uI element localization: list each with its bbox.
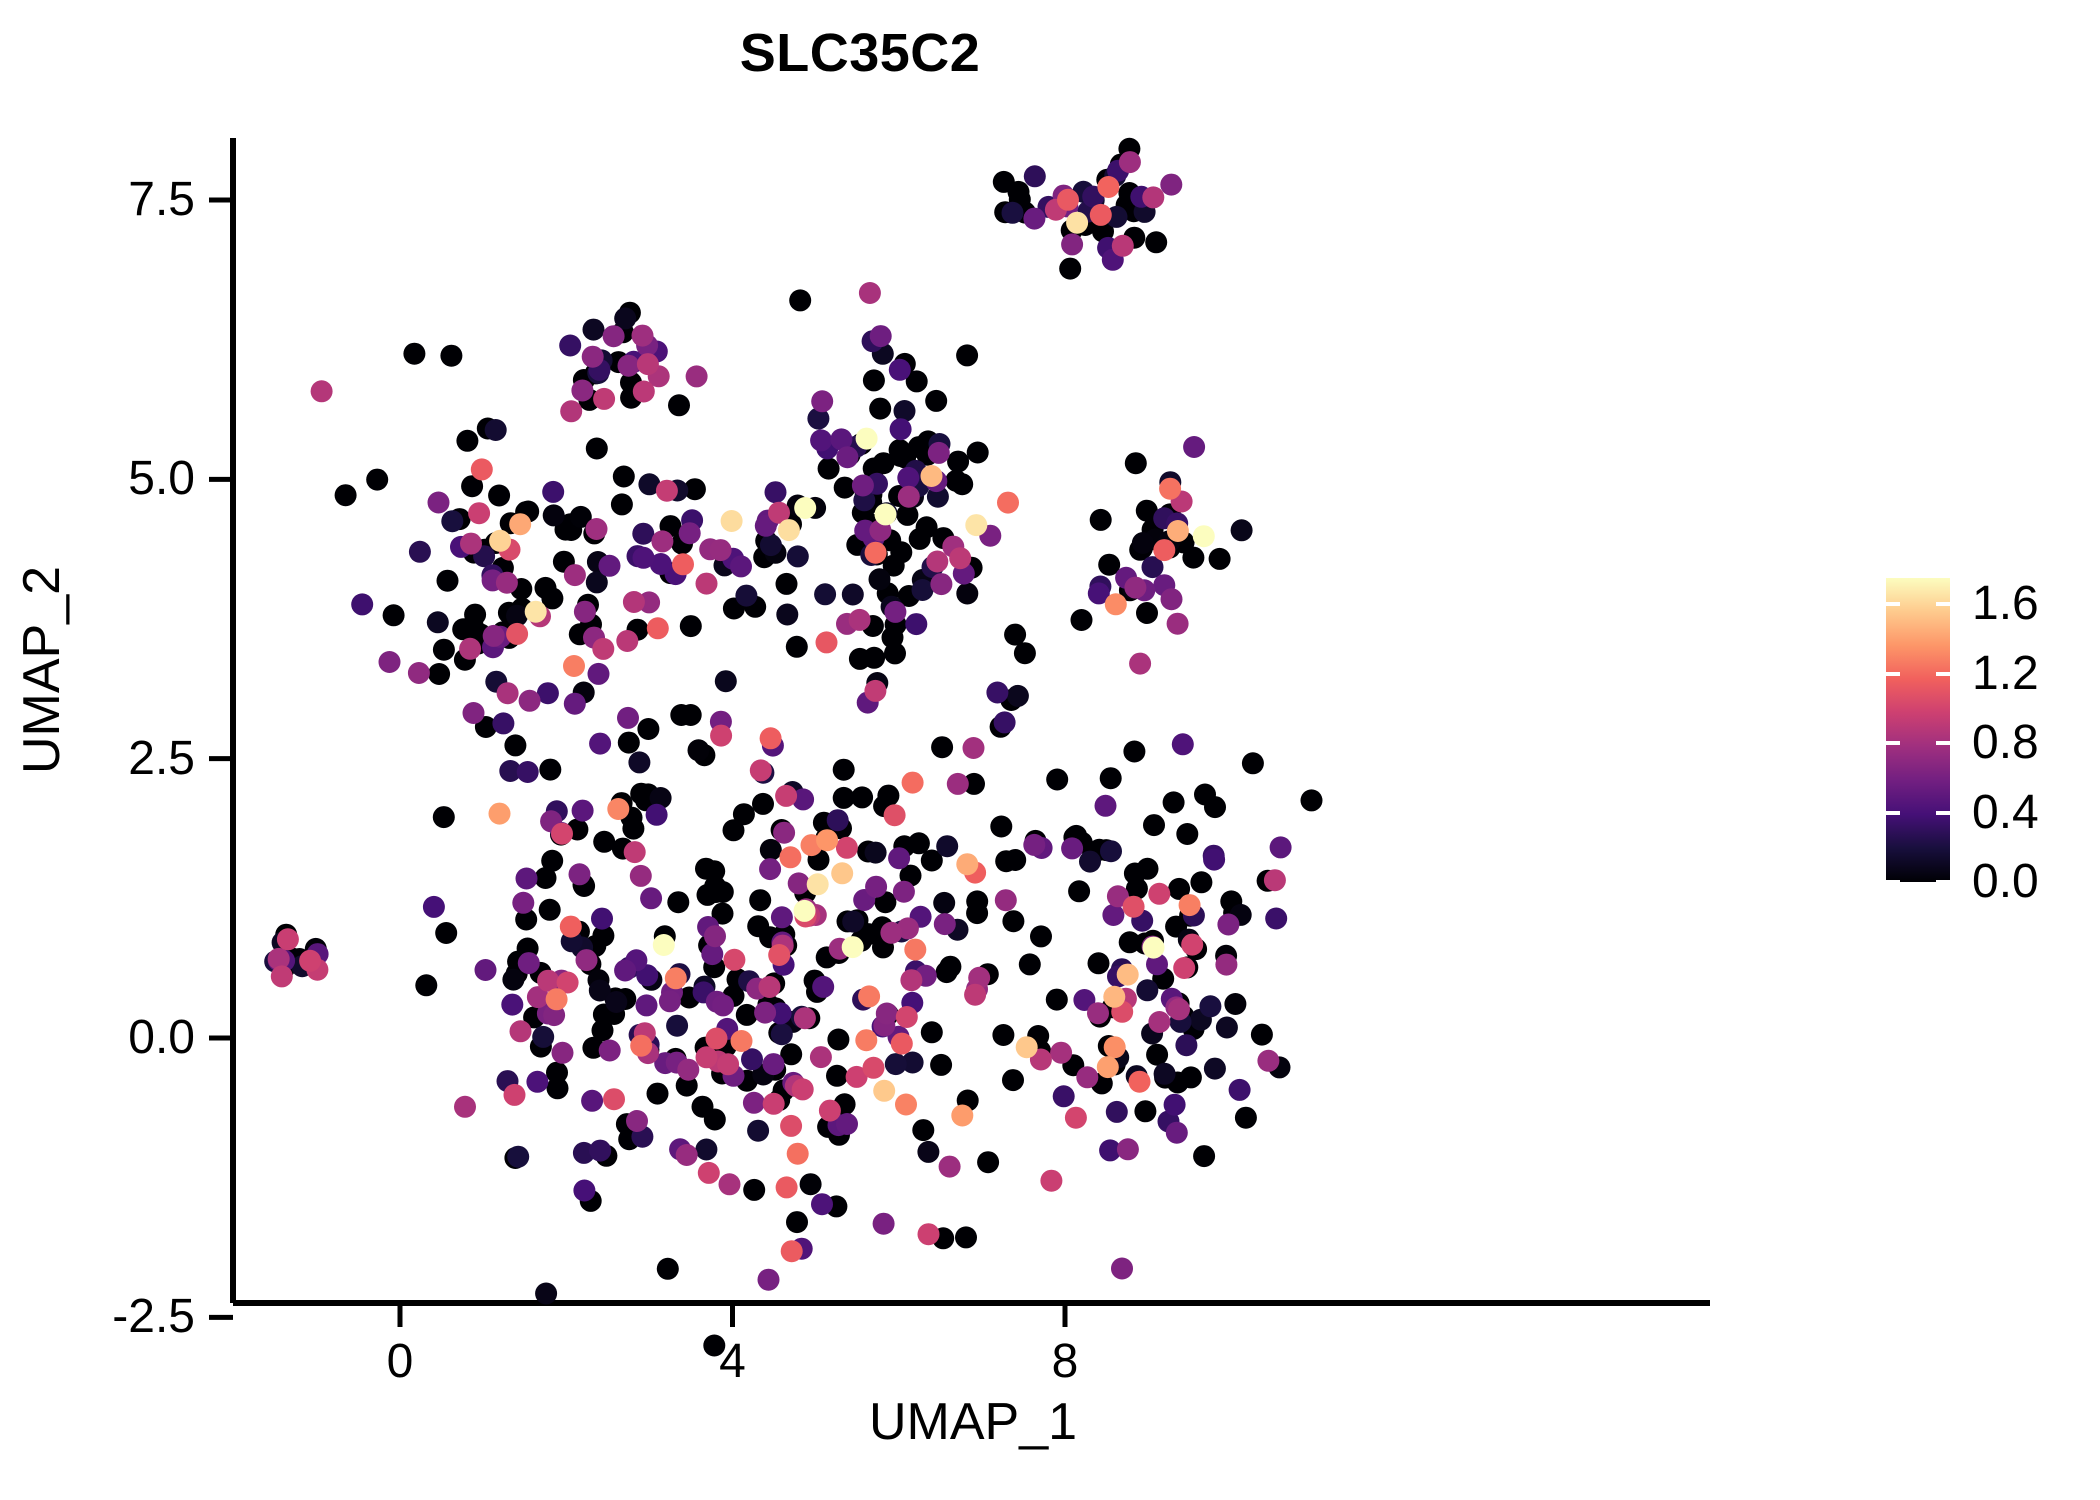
scatter-point (637, 718, 659, 740)
scatter-point (1168, 998, 1190, 1020)
scatter-point (1008, 181, 1030, 203)
scatter-point (1136, 602, 1158, 624)
scatter-point (1104, 1036, 1126, 1058)
scatter-point (510, 1020, 532, 1042)
scatter-point (573, 1180, 595, 1202)
scatter-point (750, 759, 772, 781)
scatter-point (535, 867, 557, 889)
scatter-point (1103, 986, 1125, 1008)
scatter-point (546, 1062, 568, 1084)
scatter-point (771, 906, 793, 928)
scatter-point (1145, 231, 1167, 253)
scatter-point (1065, 1107, 1087, 1129)
scatter-point (1088, 952, 1110, 974)
scatter-point (891, 1033, 913, 1055)
scatter-point (640, 887, 662, 909)
scatter-point (592, 638, 614, 660)
scatter-point (656, 480, 678, 502)
scatter-point (1148, 883, 1170, 905)
scatter-point (1180, 1066, 1202, 1088)
scatter-point (599, 555, 621, 577)
scatter-point (1166, 1122, 1188, 1144)
scatter-point (651, 530, 673, 552)
scatter-point (1137, 858, 1159, 880)
scatter-point (1229, 1079, 1251, 1101)
scatter-point (819, 1100, 841, 1122)
scatter-point (864, 680, 886, 702)
scatter-point (800, 1173, 822, 1195)
scatter-point (810, 429, 832, 451)
scatter-point (433, 806, 455, 828)
scatter-point (792, 1078, 814, 1100)
scatter-point (525, 601, 547, 623)
scatter-point (415, 974, 437, 996)
scatter-point (581, 1090, 603, 1112)
scatter-point (1119, 151, 1141, 173)
scatter-point (277, 928, 299, 950)
x-tick-label: 0 (340, 1334, 460, 1389)
scatter-point (1167, 520, 1189, 542)
scatter-point (616, 630, 638, 652)
scatter-point (497, 682, 519, 704)
scatter-point (735, 585, 757, 607)
scatter-point (1203, 849, 1225, 871)
scatter-point (633, 381, 655, 403)
scatter-point (1024, 165, 1046, 187)
scatter-point (909, 528, 931, 550)
scatter-point (833, 759, 855, 781)
scatter-point (900, 969, 922, 991)
scatter-point (1204, 1058, 1226, 1080)
scatter-point (873, 1080, 895, 1102)
scatter-point (893, 881, 915, 903)
scatter-point (763, 1053, 785, 1075)
scatter-point (427, 611, 449, 633)
scatter-point (963, 737, 985, 759)
scatter-point (492, 712, 514, 734)
scatter-point (526, 1071, 548, 1093)
scatter-point (918, 1223, 940, 1245)
scatter-point (475, 959, 497, 981)
scatter-point (677, 1059, 699, 1081)
scatter-point (1023, 208, 1045, 230)
scatter-point (518, 952, 540, 974)
scatter-point (647, 1083, 669, 1105)
scatter-point (1264, 869, 1286, 891)
scatter-point (471, 458, 493, 480)
scatter-point (516, 868, 538, 890)
scatter-point (1167, 613, 1189, 635)
scatter-point (672, 553, 694, 575)
scatter-point (816, 829, 838, 851)
colorbar-tick-mark (1936, 741, 1950, 745)
scatter-point (760, 534, 782, 556)
scatter-point (986, 682, 1008, 704)
scatter-point (532, 1026, 554, 1048)
scatter-point (1019, 953, 1041, 975)
scatter-point (936, 835, 958, 857)
data-points (264, 138, 1322, 1357)
scatter-point (633, 547, 655, 569)
scatter-point (779, 846, 801, 868)
scatter-point (723, 949, 745, 971)
scatter-point (1076, 1066, 1098, 1088)
scatter-point (504, 734, 526, 756)
scatter-point (1164, 1094, 1186, 1116)
scatter-point (1071, 609, 1093, 631)
scatter-point (517, 761, 539, 783)
scatter-point (912, 579, 934, 601)
scatter-point (869, 568, 891, 590)
scatter-point (1136, 979, 1158, 1001)
scatter-point (995, 889, 1017, 911)
scatter-point (1159, 478, 1181, 500)
scatter-point (564, 564, 586, 586)
scatter-point (752, 793, 774, 815)
scatter-point (955, 1226, 977, 1248)
colorbar-gradient (1886, 578, 1950, 882)
scatter-point (771, 1023, 793, 1045)
scatter-point (730, 555, 752, 577)
scatter-point (1061, 233, 1083, 255)
scatter-point (880, 922, 902, 944)
scatter-point (512, 892, 534, 914)
scatter-point (489, 803, 511, 825)
scatter-point (787, 1143, 809, 1165)
scatter-point (1190, 871, 1212, 893)
scatter-point (454, 1096, 476, 1118)
scatter-point (1199, 995, 1221, 1017)
scatter-point (460, 533, 482, 555)
scatter-point (1090, 509, 1112, 531)
scatter-point (1004, 849, 1026, 871)
scatter-point (624, 841, 646, 863)
scatter-point (383, 604, 405, 626)
scatter-point (468, 502, 490, 524)
scatter-point (1123, 741, 1145, 763)
scatter-point (1016, 1036, 1038, 1058)
scatter-point (931, 736, 953, 758)
scatter-point (836, 446, 858, 468)
scatter-point (865, 876, 887, 898)
scatter-point (1217, 914, 1239, 936)
scatter-point (299, 950, 321, 972)
scatter-point (335, 484, 357, 506)
scatter-point (712, 994, 734, 1016)
colorbar-tick-mark (1886, 602, 1900, 606)
scatter-point (760, 839, 782, 861)
scatter-point (921, 1021, 943, 1043)
scatter-point (1030, 925, 1052, 947)
scatter-point (1182, 547, 1204, 569)
scatter-point (921, 465, 943, 487)
scatter-point (749, 889, 771, 911)
scatter-point (926, 551, 948, 573)
scatter-point (710, 725, 732, 747)
scatter-point (719, 1173, 741, 1195)
scatter-point (696, 573, 718, 595)
scatter-point (668, 394, 690, 416)
scatter-point (1059, 258, 1081, 280)
scatter-point (705, 881, 727, 903)
scatter-point (816, 631, 838, 653)
scatter-point (1193, 1145, 1215, 1167)
scatter-point (535, 1283, 557, 1305)
scatter-point (1057, 189, 1079, 211)
scatter-point (571, 380, 593, 402)
scatter-point (842, 584, 864, 606)
scatter-point (496, 572, 518, 594)
scatter-point (551, 823, 573, 845)
scatter-point (1046, 769, 1068, 791)
scatter-point (956, 583, 978, 605)
scatter-point (542, 481, 564, 503)
scatter-point (576, 949, 598, 971)
scatter-point (379, 651, 401, 673)
scatter-point (366, 469, 388, 491)
scatter-point (502, 969, 524, 991)
scatter-point (688, 739, 710, 761)
scatter-point (1173, 957, 1195, 979)
scatter-point (876, 1003, 898, 1025)
scatter-point (440, 345, 462, 367)
scatter-point (1097, 176, 1119, 198)
scatter-point (912, 1119, 934, 1141)
colorbar-tick-mark (1936, 672, 1950, 676)
scatter-point (885, 1053, 907, 1075)
axis-lines (233, 138, 1710, 1303)
scatter-point (818, 458, 840, 480)
colorbar-tick-mark (1936, 811, 1950, 815)
scatter-point (1160, 174, 1182, 196)
scatter-point (765, 481, 787, 503)
scatter-point (1231, 519, 1253, 541)
scatter-point (763, 1093, 785, 1115)
scatter-point (842, 911, 864, 933)
scatter-point (351, 593, 373, 615)
scatter-point (904, 939, 926, 961)
scatter-point (851, 786, 873, 808)
scatter-point (593, 831, 615, 853)
scatter-point (717, 1053, 739, 1075)
scatter-point (1111, 1258, 1133, 1280)
scatter-point (1181, 934, 1203, 956)
scatter-point (653, 934, 675, 956)
scatter-point (831, 862, 853, 884)
scatter-point (794, 900, 816, 922)
scatter-point (1146, 1044, 1168, 1066)
y-tick-label: 5.0 (35, 451, 195, 506)
scatter-point (1265, 908, 1287, 930)
scatter-point (618, 355, 640, 377)
scatter-point (859, 282, 881, 304)
scatter-point (589, 733, 611, 755)
scatter-point (586, 518, 608, 540)
scatter-point (560, 400, 582, 422)
scatter-point (994, 711, 1016, 733)
scatter-point (563, 655, 585, 677)
scatter-point (836, 837, 858, 859)
scatter-point (1007, 685, 1029, 707)
scatter-point (888, 847, 910, 869)
scatter-point (776, 573, 798, 595)
scatter-point (695, 1139, 717, 1161)
scatter-point (409, 541, 431, 563)
scatter-point (898, 486, 920, 508)
scatter-point (855, 1029, 877, 1051)
scatter-point (1100, 840, 1122, 862)
scatter-point (1204, 796, 1226, 818)
scatter-point (870, 325, 892, 347)
scatter-point (1117, 964, 1139, 986)
scatter-point (826, 1065, 848, 1087)
scatter-point (715, 670, 737, 692)
scatter-point (865, 842, 887, 864)
scatter-point (992, 1024, 1014, 1046)
scatter-point (1143, 814, 1165, 836)
scatter-point (788, 872, 810, 894)
scatter-point (849, 609, 871, 631)
scatter-point (947, 451, 969, 473)
scatter-point (483, 625, 505, 647)
colorbar-tick-label: 0.4 (1972, 785, 2039, 840)
scatter-point (787, 545, 809, 567)
scatter-point (637, 353, 659, 375)
scatter-plot-canvas (0, 0, 2100, 1500)
scatter-point (786, 1211, 808, 1233)
scatter-point (1002, 202, 1024, 224)
y-tick-label: -2.5 (35, 1289, 195, 1344)
scatter-point (773, 822, 795, 844)
scatter-point (810, 1046, 832, 1068)
scatter-point (630, 1035, 652, 1057)
scatter-point (679, 522, 701, 544)
scatter-point (501, 994, 523, 1016)
scatter-point (546, 988, 568, 1010)
scatter-point (873, 1213, 895, 1235)
scatter-point (1132, 532, 1154, 554)
scatter-point (951, 1105, 973, 1127)
scatter-point (441, 510, 463, 532)
scatter-point (884, 804, 906, 826)
scatter-point (786, 636, 808, 658)
scatter-point (680, 704, 702, 726)
scatter-point (607, 798, 629, 820)
scatter-point (1014, 642, 1036, 664)
scatter-point (896, 1006, 918, 1028)
scatter-point (543, 504, 565, 526)
scatter-point (875, 503, 897, 525)
scatter-point (827, 809, 849, 831)
scatter-point (603, 325, 625, 347)
x-tick-label: 4 (673, 1334, 793, 1389)
scatter-point (933, 892, 955, 914)
scatter-point (582, 346, 604, 368)
scatter-point (721, 510, 743, 532)
scatter-point (977, 1151, 999, 1173)
scatter-point (459, 638, 481, 660)
scatter-point (863, 647, 885, 669)
scatter-point (1148, 1011, 1170, 1033)
scatter-point (743, 1179, 765, 1201)
colorbar-tick-label: 0.0 (1972, 854, 2039, 909)
scatter-point (778, 519, 800, 541)
scatter-point (889, 359, 911, 381)
scatter-point (614, 960, 636, 982)
scatter-point (646, 804, 668, 826)
scatter-point (593, 388, 615, 410)
scatter-point (895, 1094, 917, 1116)
scatter-point (1125, 452, 1147, 474)
y-tick-label: 2.5 (35, 731, 195, 786)
colorbar-tick-mark (1886, 880, 1900, 884)
scatter-point (591, 908, 613, 930)
colorbar-tick-label: 1.2 (1972, 646, 2039, 701)
scatter-point (626, 1110, 648, 1132)
scatter-point (967, 442, 989, 464)
scatter-point (569, 863, 591, 885)
scatter-point (949, 547, 971, 569)
scatter-point (1172, 733, 1194, 755)
scatter-point (928, 442, 950, 464)
scatter-point (617, 707, 639, 729)
scatter-point (1257, 1050, 1279, 1072)
scatter-point (1002, 1069, 1024, 1091)
scatter-point (1209, 548, 1231, 570)
colorbar-tick-mark (1936, 602, 1950, 606)
scatter-point (706, 1028, 728, 1050)
scatter-point (564, 693, 586, 715)
scatter-point (603, 1088, 625, 1110)
scatter-point (743, 1092, 765, 1114)
scatter-point (776, 604, 798, 626)
scatter-point (956, 853, 978, 875)
scatter-point (1251, 1024, 1273, 1046)
scatter-point (588, 663, 610, 685)
scatter-point (807, 873, 829, 895)
scatter-point (463, 702, 485, 724)
scatter-point (827, 1029, 849, 1051)
scatter-point (894, 400, 916, 422)
scatter-point (695, 858, 717, 880)
scatter-point (1153, 539, 1175, 561)
scatter-point (1163, 791, 1185, 813)
scatter-point (812, 976, 834, 998)
scatter-point (489, 530, 511, 552)
scatter-point (731, 1030, 753, 1052)
scatter-point (586, 438, 608, 460)
scatter-point (623, 591, 645, 613)
scatter-point (1224, 993, 1246, 1015)
scatter-point (930, 1054, 952, 1076)
scatter-point (794, 1007, 816, 1029)
scatter-point (884, 642, 906, 664)
scatter-point (632, 325, 654, 347)
scatter-point (504, 1084, 526, 1106)
scatter-point (759, 976, 781, 998)
scatter-point (863, 1057, 885, 1079)
scatter-point (636, 994, 658, 1016)
scatter-point (747, 1120, 769, 1142)
scatter-point (1193, 525, 1215, 547)
scatter-point (666, 1015, 688, 1037)
scatter-point (574, 601, 596, 623)
scatter-point (408, 662, 430, 684)
scatter-point (485, 419, 507, 441)
scatter-point (776, 1176, 798, 1198)
scatter-point (560, 916, 582, 938)
scatter-point (680, 615, 702, 637)
